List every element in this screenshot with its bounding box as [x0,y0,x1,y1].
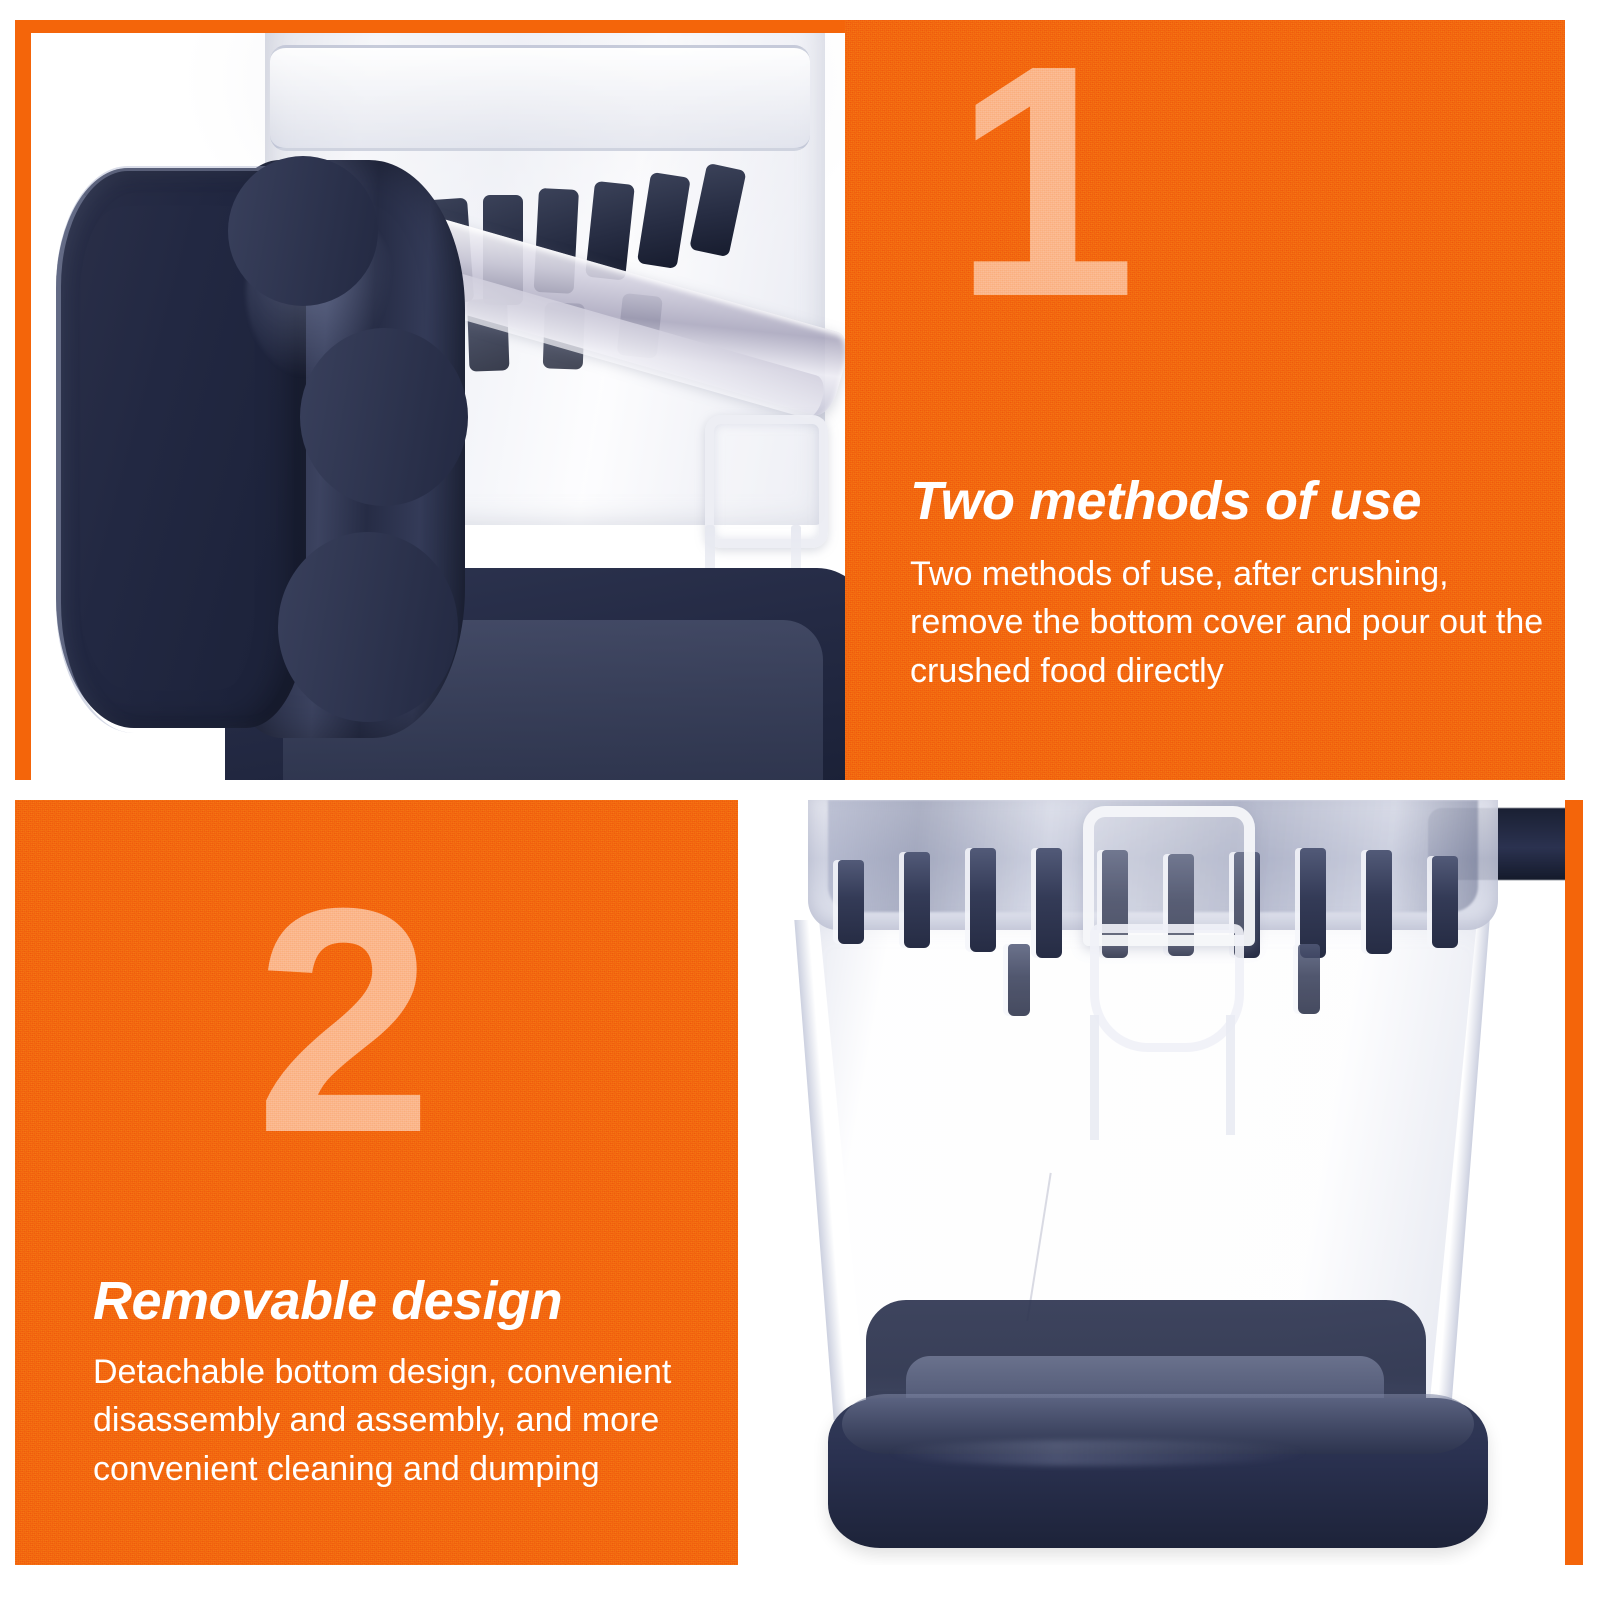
feature-2-heading: Removable design [93,1270,562,1332]
feature-1-text-panel: 1 Two methods of use Two methods of use,… [845,20,1565,780]
knob-lobe-middle [300,328,468,506]
base-specular-highlight [888,1440,1308,1466]
feature-1-photo-panel [15,20,845,780]
feature-2-body-text: Detachable bottom design, convenient dis… [93,1348,713,1493]
clear-latch-catch [705,415,828,548]
orange-accent-strip-right [1565,800,1583,1565]
feature-2-index-numeral: 2 [255,886,427,1155]
feature-1-body-text: Two methods of use, after crushing, remo… [910,550,1565,695]
orange-accent-strip-top [15,20,845,33]
latch-bowl [1090,924,1244,1052]
clear-hopper-rim [270,45,810,151]
feature-2-text-panel: 2 Removable design Detachable bottom des… [15,800,738,1565]
navy-twist-knob [50,160,460,740]
feature-1-heading: Two methods of use [910,470,1421,532]
latch-rail-left [1090,1015,1099,1140]
latch-rail-right [1226,1015,1235,1135]
feature-2-photo-panel [738,800,1583,1565]
knob-lobe-bottom [278,532,458,722]
knob-lobe-top [228,156,378,306]
feature-1-index-numeral: 1 [953,42,1131,319]
orange-accent-strip-left [15,20,31,780]
